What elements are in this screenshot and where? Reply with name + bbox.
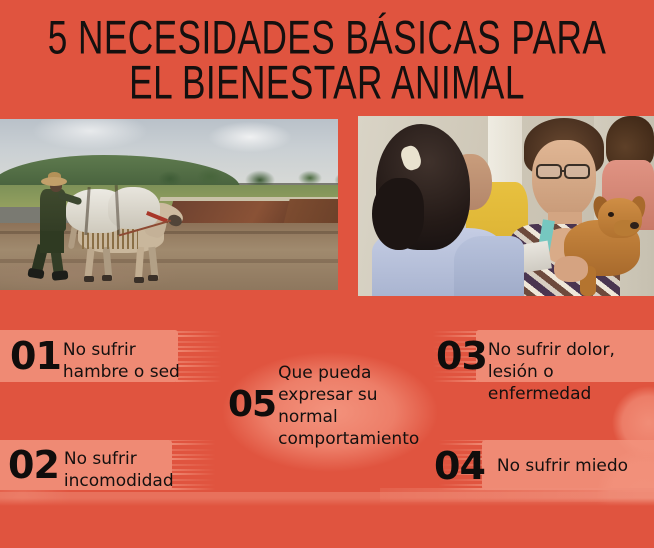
infographic-poster: 5 NECESIDADES BÁSICAS PARA EL BIENESTAR … <box>0 0 654 548</box>
need-item-05: 05 Que pueda expresar su normal comporta… <box>228 386 419 474</box>
donkey-hoof-3 <box>134 277 144 283</box>
photo-farmer-with-donkey <box>0 119 338 290</box>
photo-veterinary-clinic <box>358 116 654 296</box>
eyeglasses-bridge <box>562 170 566 172</box>
need-text-05: Que pueda expresar su normal comportamie… <box>278 362 419 450</box>
poster-title: 5 NECESIDADES BÁSICAS PARA EL BIENESTAR … <box>0 12 654 102</box>
need-text-02: No sufrir incomodidad <box>64 445 174 492</box>
farmer-boot-2 <box>52 270 69 281</box>
bottom-wash-band <box>0 492 654 548</box>
vet-shoulder <box>454 236 524 296</box>
furrow-2 <box>0 259 338 263</box>
holding-hand <box>554 256 588 282</box>
need-text-01: No sufrir hambre o sed <box>63 336 180 383</box>
need-number-01: 01 <box>10 336 61 376</box>
need-number-02: 02 <box>8 445 59 485</box>
donkey-hoof-2 <box>102 275 112 281</box>
need-number-04: 04 <box>434 446 485 486</box>
farmer-hat-brim <box>41 177 67 186</box>
vet-hair-lower <box>372 178 424 250</box>
eyeglasses-lens-right <box>564 164 590 179</box>
need-number-03: 03 <box>436 336 487 376</box>
donkey-hoof-4 <box>148 275 158 281</box>
need-number-05: 05 <box>228 386 276 424</box>
elderly-woman-face <box>532 140 596 218</box>
dog-nose <box>630 222 639 229</box>
dog-eye <box>608 212 614 217</box>
need-text-04: No sufrir miedo <box>497 455 628 477</box>
eyeglasses-lens-left <box>536 164 562 179</box>
donkey-hoof-1 <box>84 276 94 282</box>
need-item-02: 02 No sufrir incomodidad <box>8 445 174 492</box>
need-item-01: 01 No sufrir hambre o sed <box>10 336 180 383</box>
need-item-03: 03 No sufrir dolor, lesión o enfermedad <box>436 336 654 405</box>
title-line-2: EL BIENESTAR ANIMAL <box>39 57 615 110</box>
need-text-03: No sufrir dolor, lesión o enfermedad <box>488 336 654 405</box>
need-item-04: 04 No sufrir miedo <box>434 446 628 486</box>
